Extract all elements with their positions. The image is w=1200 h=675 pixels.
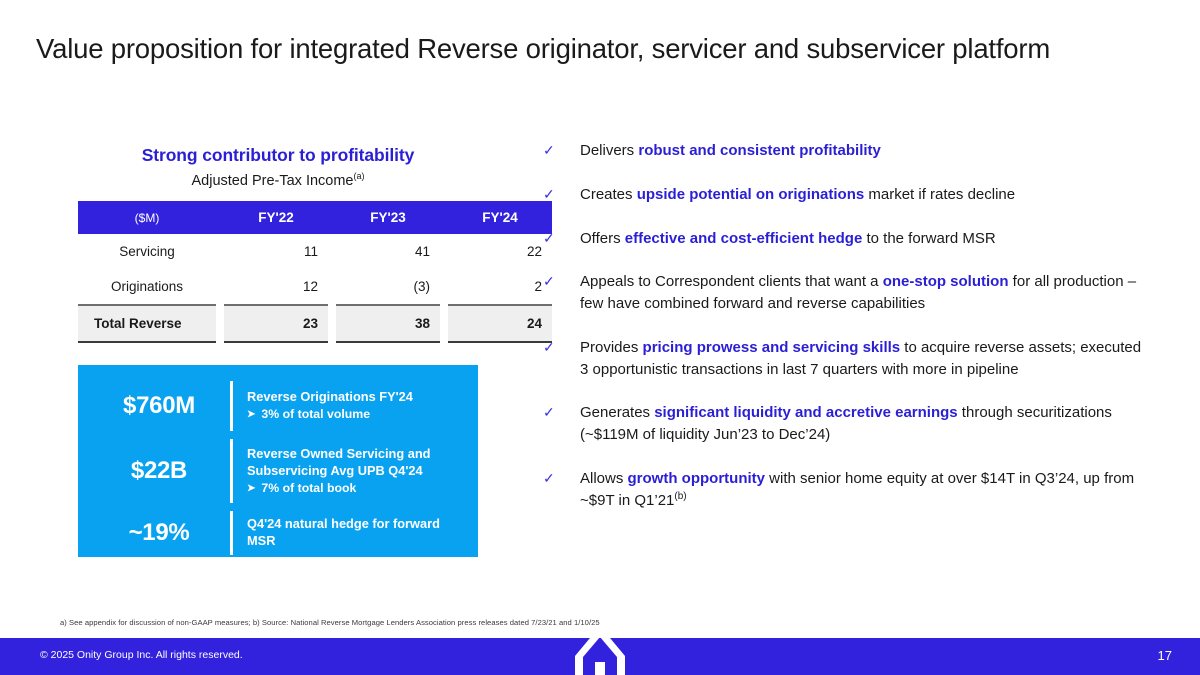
list-item-text: Offers effective and cost-efficient hedg… xyxy=(580,228,1143,250)
check-icon: ✓ xyxy=(543,337,580,358)
left-panel-subheading: Adjusted Pre-Tax Income(a) xyxy=(78,173,478,189)
originations-fy24: 2 xyxy=(448,269,552,305)
list-item: ✓ Appeals to Correspondent clients that … xyxy=(543,271,1143,315)
adjusted-pretax-income-table: ($M) FY'22 FY'23 FY'24 Servicing 11 41 2… xyxy=(78,201,552,343)
list-item-text: Provides pricing prowess and servicing s… xyxy=(580,337,1143,381)
check-icon: ✓ xyxy=(543,468,580,489)
list-item: ✓ Allows growth opportunity with senior … xyxy=(543,468,1143,512)
row-gap xyxy=(440,234,448,269)
metric-description-text: Reverse Owned Servicing and Subservicing… xyxy=(247,446,431,478)
key-metrics-panel: $760M Reverse Originations FY'24 3% of t… xyxy=(78,365,478,557)
check-icon: ✓ xyxy=(543,140,580,161)
onity-house-logo xyxy=(557,626,643,675)
metric-divider xyxy=(230,381,233,431)
metric-description: Q4'24 natural hedge for forward MSR xyxy=(247,516,464,550)
metric-description: Reverse Owned Servicing and Subservicing… xyxy=(247,446,464,496)
metric-description-text: Q4'24 natural hedge for forward MSR xyxy=(247,516,440,548)
footnote-marker-a: (a) xyxy=(354,171,365,181)
list-item: ✓ Creates upside potential on originatio… xyxy=(543,184,1143,206)
list-item-text: Allows growth opportunity with senior ho… xyxy=(580,468,1143,512)
row-label-servicing: Servicing xyxy=(78,234,216,269)
plain-phrase: market if rates decline xyxy=(864,186,1015,203)
list-item-text: Appeals to Correspondent clients that wa… xyxy=(580,271,1143,315)
table-header-units: ($M) xyxy=(78,201,216,234)
table-header-gap-2 xyxy=(328,201,336,234)
row-gap xyxy=(440,305,448,342)
metric-row-originations: $760M Reverse Originations FY'24 3% of t… xyxy=(78,377,478,435)
plain-phrase: Appeals to Correspondent clients that wa… xyxy=(580,273,883,290)
highlight-phrase: growth opportunity xyxy=(628,470,765,487)
slide-footnote: a) See appendix for discussion of non-GA… xyxy=(60,618,600,627)
list-item: ✓ Delivers robust and consistent profita… xyxy=(543,140,1143,162)
list-item: ✓ Offers effective and cost-efficient he… xyxy=(543,228,1143,250)
metric-row-servicing-upb: $22B Reverse Owned Servicing and Subserv… xyxy=(78,435,478,507)
plain-phrase: Creates xyxy=(580,186,637,203)
plain-phrase: Allows xyxy=(580,470,628,487)
metric-value-22b: $22B xyxy=(88,457,230,485)
plain-phrase: to the forward MSR xyxy=(862,230,995,247)
list-item: ✓ Provides pricing prowess and servicing… xyxy=(543,337,1143,381)
table-header-gap-3 xyxy=(440,201,448,234)
left-panel-subheading-text: Adjusted Pre-Tax Income xyxy=(192,173,354,189)
value-proposition-list: ✓ Delivers robust and consistent profita… xyxy=(543,140,1143,533)
list-item-text: Delivers robust and consistent profitabi… xyxy=(580,140,1143,162)
metric-subnote: 3% of total volume xyxy=(247,406,464,422)
table-header-fy22: FY'22 xyxy=(224,201,328,234)
footer-page-number: 17 xyxy=(1158,648,1172,663)
originations-fy22: 12 xyxy=(224,269,328,305)
footnote-marker-b: (b) xyxy=(674,491,686,502)
table-header-fy24: FY'24 xyxy=(448,201,552,234)
total-reverse-fy22: 23 xyxy=(224,305,328,342)
table-row: Originations 12 (3) 2 xyxy=(78,269,552,305)
table-total-row: Total Reverse 23 38 24 xyxy=(78,305,552,342)
left-panel: Strong contributor to profitability Adju… xyxy=(78,145,478,343)
left-panel-heading: Strong contributor to profitability xyxy=(78,145,478,166)
highlight-phrase: significant liquidity and accretive earn… xyxy=(654,404,957,421)
highlight-phrase: effective and cost-efficient hedge xyxy=(625,230,863,247)
page-title: Value proposition for integrated Reverse… xyxy=(36,33,1050,65)
total-reverse-fy23: 38 xyxy=(336,305,440,342)
highlight-phrase: upside potential on originations xyxy=(637,186,865,203)
row-label-total-reverse: Total Reverse xyxy=(78,305,216,342)
table-header-gap-1 xyxy=(216,201,224,234)
row-gap xyxy=(216,305,224,342)
plain-phrase: Provides xyxy=(580,339,643,356)
table-row: Servicing 11 41 22 xyxy=(78,234,552,269)
metric-description: Reverse Originations FY'24 3% of total v… xyxy=(247,389,464,422)
row-gap xyxy=(440,269,448,305)
servicing-fy24: 22 xyxy=(448,234,552,269)
table-header-fy23: FY'23 xyxy=(336,201,440,234)
row-gap xyxy=(328,269,336,305)
highlight-phrase: robust and consistent profitability xyxy=(638,142,881,159)
list-item-text: Generates significant liquidity and accr… xyxy=(580,402,1143,446)
plain-phrase: Generates xyxy=(580,404,654,421)
metric-divider xyxy=(230,511,233,555)
originations-fy23: (3) xyxy=(336,269,440,305)
check-icon: ✓ xyxy=(543,228,580,249)
metric-description-text: Reverse Originations FY'24 xyxy=(247,389,413,404)
check-icon: ✓ xyxy=(543,402,580,423)
row-gap xyxy=(216,234,224,269)
row-label-originations: Originations xyxy=(78,269,216,305)
servicing-fy23: 41 xyxy=(336,234,440,269)
metric-row-natural-hedge: ~19% Q4'24 natural hedge for forward MSR xyxy=(78,507,478,559)
check-icon: ✓ xyxy=(543,271,580,292)
row-gap xyxy=(216,269,224,305)
list-item: ✓ Generates significant liquidity and ac… xyxy=(543,402,1143,446)
metric-value-19pct: ~19% xyxy=(88,519,230,547)
metric-value-760m: $760M xyxy=(88,392,230,420)
left-panel-heading-text: Strong contributor to profitability xyxy=(142,145,415,165)
metric-divider xyxy=(230,439,233,503)
metric-subnote: 7% of total book xyxy=(247,480,464,496)
row-gap xyxy=(328,305,336,342)
plain-phrase: Offers xyxy=(580,230,625,247)
table-header-row: ($M) FY'22 FY'23 FY'24 xyxy=(78,201,552,234)
highlight-phrase: one-stop solution xyxy=(883,273,1009,290)
footer-copyright: © 2025 Onity Group Inc. All rights reser… xyxy=(40,649,243,661)
row-gap xyxy=(328,234,336,269)
plain-phrase: Delivers xyxy=(580,142,638,159)
highlight-phrase: pricing prowess and servicing skills xyxy=(643,339,901,356)
servicing-fy22: 11 xyxy=(224,234,328,269)
check-icon: ✓ xyxy=(543,184,580,205)
total-reverse-fy24: 24 xyxy=(448,305,552,342)
list-item-text: Creates upside potential on originations… xyxy=(580,184,1143,206)
